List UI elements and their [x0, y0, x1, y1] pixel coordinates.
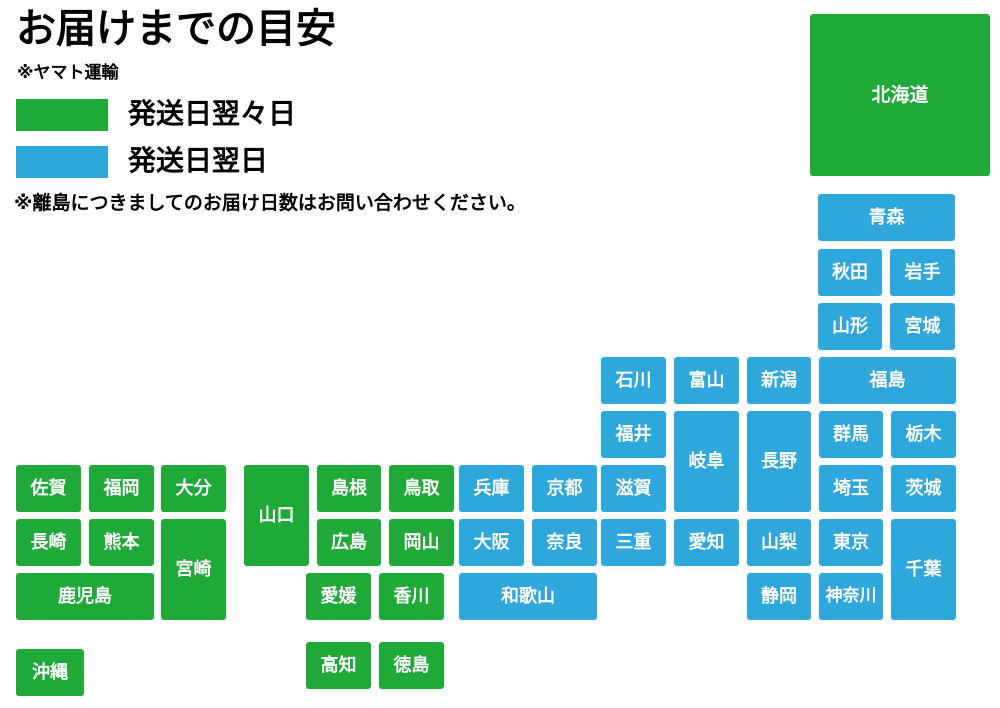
prefecture-label: 神奈川	[826, 587, 877, 606]
prefecture-cell: 鹿児島	[16, 573, 154, 620]
prefecture-label: 沖縄	[32, 663, 68, 683]
prefecture-label: 岡山	[404, 533, 440, 553]
prefecture-cell: 鳥取	[389, 465, 454, 512]
prefecture-cell: 群馬	[819, 411, 883, 458]
prefecture-label: 奈良	[547, 533, 583, 553]
prefecture-cell: 秋田	[818, 249, 882, 296]
prefecture-label: 茨城	[906, 479, 942, 499]
prefecture-cell: 山形	[818, 303, 882, 350]
prefecture-cell: 長崎	[16, 519, 81, 566]
prefecture-cell: 神奈川	[819, 573, 883, 620]
prefecture-label: 群馬	[833, 425, 869, 445]
prefecture-cell: 佐賀	[16, 465, 81, 512]
prefecture-label: 宮城	[905, 317, 941, 337]
japan-prefecture-map: 北海道青森秋田岩手山形宮城石川富山新潟福島福井岐阜長野群馬栃木兵庫京都滋賀埼玉茨…	[0, 0, 1000, 708]
prefecture-cell: 千葉	[891, 519, 956, 620]
prefecture-cell: 宮城	[890, 303, 955, 350]
prefecture-label: 島根	[331, 479, 367, 499]
prefecture-label: 福井	[616, 425, 652, 445]
prefecture-cell: 岡山	[389, 519, 454, 566]
prefecture-label: 徳島	[394, 656, 430, 676]
prefecture-cell: 愛知	[674, 519, 739, 566]
prefecture-label: 香川	[394, 587, 430, 607]
prefecture-cell: 三重	[601, 519, 666, 566]
prefecture-cell: 愛媛	[306, 573, 371, 620]
prefecture-label: 秋田	[832, 263, 868, 283]
prefecture-cell: 京都	[532, 465, 597, 512]
prefecture-label: 福岡	[104, 479, 140, 499]
prefecture-cell: 大阪	[459, 519, 524, 566]
prefecture-label: 京都	[547, 479, 583, 499]
prefecture-label: 東京	[833, 533, 869, 553]
prefecture-label: 新潟	[761, 371, 797, 391]
prefecture-label: 佐賀	[31, 479, 67, 499]
prefecture-label: 滋賀	[616, 479, 652, 499]
prefecture-label: 山形	[832, 317, 868, 337]
prefecture-cell: 香川	[379, 573, 444, 620]
prefecture-cell: 埼玉	[819, 465, 883, 512]
prefecture-cell: 山口	[244, 465, 309, 566]
prefecture-cell: 大分	[161, 465, 226, 512]
prefecture-label: 青森	[869, 208, 905, 228]
prefecture-label: 鳥取	[404, 479, 440, 499]
prefecture-label: 静岡	[761, 587, 797, 607]
prefecture-cell: 山梨	[747, 519, 811, 566]
prefecture-label: 長崎	[31, 533, 67, 553]
prefecture-cell: 岩手	[890, 249, 955, 296]
prefecture-cell: 宮崎	[161, 519, 226, 620]
prefecture-cell: 静岡	[747, 573, 811, 620]
prefecture-cell: 兵庫	[459, 465, 524, 512]
prefecture-cell: 高知	[306, 642, 371, 689]
prefecture-cell: 福島	[819, 357, 956, 404]
prefecture-cell: 北海道	[810, 14, 990, 176]
prefecture-cell: 茨城	[891, 465, 956, 512]
prefecture-cell: 熊本	[89, 519, 154, 566]
prefecture-label: 岩手	[905, 263, 941, 283]
prefecture-label: 山口	[259, 506, 295, 526]
prefecture-cell: 富山	[674, 357, 739, 404]
prefecture-cell: 滋賀	[601, 465, 666, 512]
prefecture-label: 愛知	[689, 533, 725, 553]
prefecture-label: 岐阜	[689, 452, 725, 472]
prefecture-label: 大阪	[474, 533, 510, 553]
prefecture-cell: 栃木	[891, 411, 956, 458]
prefecture-cell: 長野	[747, 411, 811, 512]
prefecture-label: 山梨	[761, 533, 797, 553]
prefecture-label: 福島	[870, 371, 906, 391]
prefecture-label: 愛媛	[321, 587, 357, 607]
prefecture-cell: 福井	[601, 411, 666, 458]
prefecture-cell: 東京	[819, 519, 883, 566]
prefecture-cell: 石川	[601, 357, 666, 404]
prefecture-label: 大分	[176, 479, 212, 499]
prefecture-label: 富山	[689, 371, 725, 391]
prefecture-cell: 和歌山	[459, 573, 597, 620]
prefecture-cell: 福岡	[89, 465, 154, 512]
prefecture-label: 埼玉	[833, 479, 869, 499]
prefecture-label: 栃木	[906, 425, 942, 445]
prefecture-cell: 奈良	[532, 519, 597, 566]
prefecture-label: 和歌山	[501, 587, 555, 607]
prefecture-label: 千葉	[906, 560, 942, 580]
prefecture-label: 石川	[616, 371, 652, 391]
prefecture-label: 兵庫	[474, 479, 510, 499]
prefecture-label: 三重	[616, 533, 652, 553]
prefecture-cell: 新潟	[747, 357, 811, 404]
prefecture-label: 宮崎	[176, 560, 212, 580]
prefecture-cell: 沖縄	[16, 649, 84, 696]
prefecture-label: 鹿児島	[58, 587, 112, 607]
prefecture-cell: 島根	[317, 465, 381, 512]
prefecture-label: 高知	[321, 656, 357, 676]
prefecture-cell: 徳島	[379, 642, 444, 689]
prefecture-cell: 広島	[317, 519, 381, 566]
delivery-estimate-map-page: お届けまでの目安 ※ヤマト運輸 発送日翌々日 発送日翌日 ※離島につきましてのお…	[0, 0, 1000, 708]
prefecture-cell: 青森	[818, 194, 955, 241]
prefecture-label: 熊本	[104, 533, 140, 553]
prefecture-label: 広島	[331, 533, 367, 553]
prefecture-label: 北海道	[871, 85, 928, 106]
prefecture-cell: 岐阜	[674, 411, 739, 512]
prefecture-label: 長野	[761, 452, 797, 472]
